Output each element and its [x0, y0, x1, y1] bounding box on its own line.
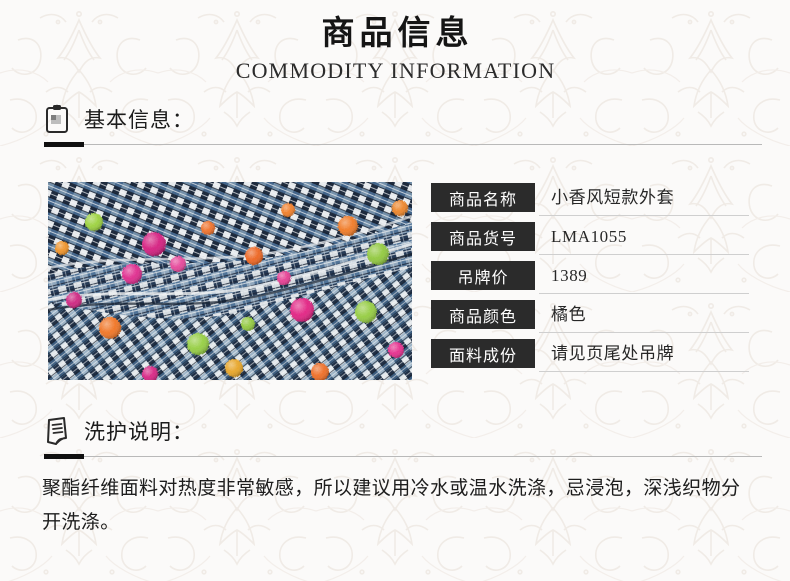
section-divider-basic-info: [44, 142, 762, 147]
fabric-texture-image: [48, 182, 412, 380]
row-underline: [539, 215, 749, 216]
table-row: 商品名称 小香风短款外套: [431, 183, 749, 222]
row-underline: [539, 371, 749, 372]
section-care-head: 洗护说明：: [44, 414, 762, 448]
specification-table: 商品名称 小香风短款外套 商品货号 LMA1055 吊牌价 1389 商品颜色 …: [431, 183, 749, 378]
spec-label-product-name: 商品名称: [431, 183, 535, 212]
row-underline: [539, 254, 749, 255]
section-basic-info: 基本信息：: [44, 102, 762, 147]
divider-line: [44, 456, 762, 457]
spec-value-product-name: 小香风短款外套: [551, 183, 674, 212]
page-title-en: COMMODITY INFORMATION: [0, 57, 790, 85]
page-title-cn: 商品信息: [0, 14, 790, 54]
table-row: 面料成份 请见页尾处吊牌: [431, 339, 749, 378]
table-row: 吊牌价 1389: [431, 261, 749, 300]
page-header: 商品信息 COMMODITY INFORMATION: [0, 14, 790, 85]
table-row: 商品货号 LMA1055: [431, 222, 749, 261]
spec-value-color: 橘色: [551, 300, 586, 329]
section-care-instructions: 洗护说明：: [44, 414, 762, 459]
divider-accent: [44, 142, 84, 147]
spec-label-material: 面料成份: [431, 339, 535, 368]
commodity-information-page: 商品信息 COMMODITY INFORMATION 基本信息：: [0, 0, 790, 581]
divider-line: [44, 144, 762, 145]
spec-value-tag-price: 1389: [551, 261, 587, 290]
table-row: 商品颜色 橘色: [431, 300, 749, 339]
product-photo: [48, 182, 412, 380]
spec-value-product-code: LMA1055: [551, 222, 627, 251]
section-basic-info-head: 基本信息：: [44, 102, 762, 136]
divider-accent: [44, 454, 84, 459]
spec-label-tag-price: 吊牌价: [431, 261, 535, 290]
row-underline: [539, 332, 749, 333]
clipboard-icon: [44, 104, 70, 134]
care-instructions-text: 聚酯纤维面料对热度非常敏感，所以建议用冷水或温水洗涤，忌浸泡，深浅织物分开洗涤。: [42, 472, 754, 540]
section-basic-info-title: 基本信息：: [84, 104, 194, 134]
spec-label-product-code: 商品货号: [431, 222, 535, 251]
spec-value-material: 请见页尾处吊牌: [551, 339, 674, 368]
document-lines-icon: [44, 416, 70, 446]
section-care-title: 洗护说明：: [84, 416, 194, 446]
spec-label-color: 商品颜色: [431, 300, 535, 329]
section-divider-care: [44, 454, 762, 459]
row-underline: [539, 293, 749, 294]
